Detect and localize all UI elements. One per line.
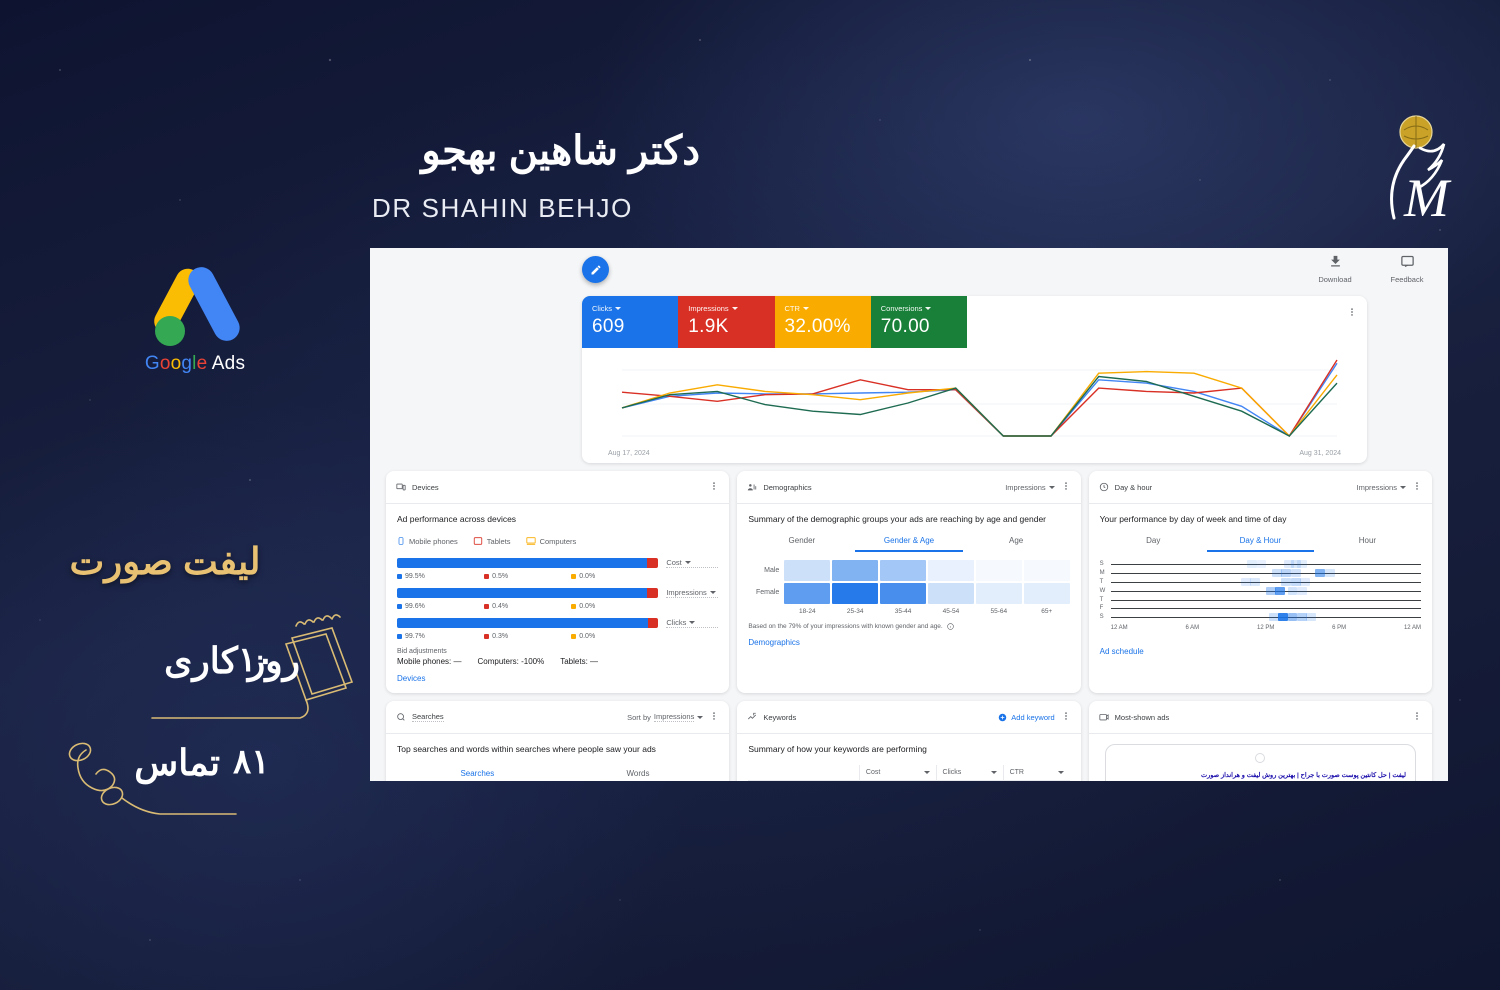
- kebab-icon: [1061, 481, 1071, 491]
- tab-day[interactable]: Day: [1100, 536, 1207, 552]
- pct-mobile-cost: 99.5%: [405, 573, 425, 580]
- row-label-male: Male: [748, 560, 779, 582]
- tab-searches[interactable]: Searches: [397, 769, 558, 781]
- kpi-card-impressions[interactable]: Impressions 1.9K: [678, 296, 774, 348]
- chevron-down-icon: [697, 716, 703, 719]
- chevron-down-icon: [925, 307, 931, 310]
- day-lane: [1111, 600, 1421, 601]
- demographics-row-male: [784, 560, 1069, 581]
- kw-col-clicks[interactable]: Clicks: [936, 765, 1003, 780]
- demographics-icon: [747, 482, 757, 492]
- searches-card-title: Searches: [412, 712, 444, 722]
- devices-legend: Mobile phones Tablets Computers: [397, 536, 718, 546]
- chevron-down-icon: [924, 771, 930, 774]
- day-hour-cell[interactable]: [1315, 569, 1325, 577]
- demographics-cell[interactable]: [832, 560, 878, 581]
- demographics-cell[interactable]: [928, 583, 974, 604]
- day-hour-day-labels: SMTWTFS: [1100, 560, 1111, 622]
- day-lane: [1111, 608, 1421, 609]
- searches-sort-label: Sort by: [627, 713, 651, 722]
- kpi-value-ctr: 32.00%: [785, 316, 861, 338]
- bid-adj-mobile: Mobile phones: —: [397, 657, 462, 666]
- legend-tablets: Tablets: [473, 536, 511, 546]
- day-hour-subtitle: Your performance by day of week and time…: [1100, 513, 1421, 525]
- day-label: T: [1100, 578, 1111, 587]
- chevron-down-icon: [1049, 486, 1055, 489]
- device-pcts-clicks: 99.7% 0.3% 0.0%: [397, 633, 718, 640]
- day-hour-cell[interactable]: [1250, 578, 1260, 586]
- device-bar-row-cost: Cost: [397, 558, 718, 568]
- bid-adjustments-label: Bid adjustments: [397, 648, 718, 655]
- searches-subtitle: Top searches and words within searches w…: [397, 743, 718, 755]
- kw-col-cost[interactable]: Cost: [859, 765, 936, 780]
- pct-mobile-clicks: 99.7%: [405, 633, 425, 640]
- day-hour-plot: [1111, 560, 1421, 622]
- day-label: T: [1100, 596, 1111, 605]
- demographics-card-header: Demographics Impressions: [737, 471, 1080, 504]
- chevron-down-icon: [803, 307, 809, 310]
- tablet-icon: [473, 536, 483, 546]
- device-metric-selector-clicks[interactable]: Clicks: [666, 618, 718, 628]
- pct-tablets-cost: 0.5%: [492, 573, 508, 580]
- tab-age[interactable]: Age: [963, 536, 1070, 552]
- devices-card-header: Devices: [386, 471, 729, 504]
- stat-days-value: ۱۰: [238, 640, 275, 680]
- chevron-down-icon: [1058, 771, 1064, 774]
- day-hour-cell[interactable]: [1291, 569, 1301, 577]
- searches-sort-value: Impressions: [654, 712, 694, 722]
- legend-computers: Computers: [526, 536, 577, 546]
- tab-hour[interactable]: Hour: [1314, 536, 1421, 552]
- pct-computers-impressions: 0.0%: [579, 603, 595, 610]
- day-hour-footer-link[interactable]: Ad schedule: [1100, 647, 1421, 656]
- download-button[interactable]: Download: [1312, 254, 1358, 284]
- bid-adj-tablets: Tablets: —: [560, 657, 598, 666]
- demographics-note: Based on the 79% of your impressions wit…: [748, 623, 1069, 630]
- add-keyword-button[interactable]: Add keyword: [998, 713, 1054, 722]
- demographics-cell[interactable]: [832, 583, 878, 604]
- demographics-tabs: Gender Gender & Age Age: [748, 536, 1069, 552]
- wordmark-ads: Ads: [207, 353, 245, 374]
- bid-adj-computers: Computers: -100%: [478, 657, 545, 666]
- demographics-cell[interactable]: [976, 583, 1022, 604]
- dashboard-row-bottom: Searches Sort by Impressions Top searche…: [386, 701, 1432, 781]
- bid-adjustments-values: Mobile phones: — Computers: -100% Tablet…: [397, 657, 718, 666]
- demographics-age-axis: 18-2425-3435-4445-5455-6465+: [784, 608, 1069, 615]
- doctor-name-english: DR SHAHIN BEHJO: [372, 193, 633, 224]
- kpi-card-conversions[interactable]: Conversions 70.00: [871, 296, 967, 348]
- device-metric-selector-cost[interactable]: Cost: [666, 558, 718, 568]
- performance-line-chart: Aug 17, 2024 Aug 31, 2024: [582, 348, 1367, 463]
- keywords-card: Keywords Add keyword Summary of how your…: [737, 701, 1080, 781]
- google-ads-dashboard-screenshot: Download Feedback Clicks 609 Imp: [370, 248, 1448, 781]
- kebab-icon: [1412, 711, 1422, 721]
- devices-card-body: Ad performance across devices Mobile pho…: [386, 504, 729, 693]
- day-label: F: [1100, 604, 1111, 613]
- day-hour-kebab-menu[interactable]: [1412, 478, 1422, 496]
- device-bar-impressions: [397, 588, 658, 598]
- demographics-card-body: Summary of the demographic groups your a…: [737, 504, 1080, 657]
- kebab-icon: [709, 481, 719, 491]
- chevron-down-icon: [1400, 486, 1406, 489]
- demographics-cell[interactable]: [976, 560, 1022, 581]
- device-bar-clicks: [397, 618, 658, 628]
- day-lane: [1111, 582, 1421, 583]
- legend-label-tablets: Tablets: [487, 537, 511, 546]
- hour-label: 12 AM: [1404, 625, 1421, 631]
- day-hour-card-body: Your performance by day of week and time…: [1089, 504, 1432, 666]
- computer-icon: [526, 536, 536, 546]
- ad-preview-phone-frame: لیفت | حل کانتین پوست صورت با جراح | بهت…: [1105, 744, 1416, 781]
- tab-words[interactable]: Words: [558, 769, 719, 781]
- clinic-monogram-logo: M: [1358, 108, 1470, 228]
- legend-label-mobile: Mobile phones: [409, 537, 458, 546]
- keywords-icon: [747, 712, 757, 722]
- device-bar-row-clicks: Clicks: [397, 618, 718, 628]
- overview-card: Clicks 609 Impressions 1.9K CTR 32.00% C…: [582, 296, 1367, 463]
- dashboard-toolbar: Download Feedback: [370, 248, 1448, 296]
- searches-card-body: Top searches and words within searches w…: [386, 734, 729, 781]
- chevron-down-icon: [732, 307, 738, 310]
- day-lane: [1111, 617, 1421, 618]
- age-bucket-label: 65+: [1024, 608, 1070, 615]
- keywords-subtitle: Summary of how your keywords are perform…: [748, 743, 1069, 755]
- kpi-card-clicks[interactable]: Clicks 609: [582, 296, 678, 348]
- chart-date-end: Aug 31, 2024: [1299, 450, 1341, 457]
- chevron-down-icon: [689, 621, 695, 624]
- pct-tablets-impressions: 0.4%: [492, 603, 508, 610]
- chart-series-impressions: [622, 360, 1337, 436]
- demographics-cell[interactable]: [1024, 560, 1070, 581]
- add-keyword-label: Add keyword: [1011, 713, 1054, 722]
- google-ads-logo: Google Ads: [135, 262, 255, 375]
- hour-label: 6 AM: [1185, 625, 1199, 631]
- chart-date-start: Aug 17, 2024: [608, 450, 650, 457]
- device-pcts-cost: 99.5% 0.5% 0.0%: [397, 573, 718, 580]
- wordmark-char-g2: g: [181, 353, 192, 374]
- clock-icon: [1099, 482, 1109, 492]
- age-bucket-label: 45-54: [928, 608, 974, 615]
- day-hour-hour-axis: 12 AM6 AM12 PM6 PM12 AM: [1111, 625, 1421, 631]
- plus-circle-icon: [998, 713, 1007, 722]
- dashboard-content: Clicks 609 Impressions 1.9K CTR 32.00% C…: [370, 296, 1448, 781]
- searches-kebab-menu[interactable]: [709, 708, 719, 726]
- demographics-kebab-menu[interactable]: [1061, 478, 1071, 496]
- keywords-card-body: Summary of how your keywords are perform…: [737, 734, 1080, 781]
- stat-calls-label: تماس: [30, 742, 220, 784]
- chevron-down-icon: [685, 561, 691, 564]
- age-bucket-label: 18-24: [784, 608, 830, 615]
- age-bucket-label: 55-64: [976, 608, 1022, 615]
- download-label: Download: [1312, 275, 1358, 284]
- device-bar-row-impressions: Impressions: [397, 588, 718, 598]
- keywords-kebab-menu[interactable]: [1061, 708, 1071, 726]
- tab-gender[interactable]: Gender: [748, 536, 855, 552]
- devices-subtitle: Ad performance across devices: [397, 513, 718, 525]
- day-hour-cell[interactable]: [1278, 613, 1288, 621]
- day-hour-metric-selector[interactable]: Impressions: [1357, 483, 1406, 492]
- device-metric-selector-impressions[interactable]: Impressions: [666, 588, 718, 598]
- hour-label: 12 PM: [1257, 625, 1274, 631]
- kpi-value-conversions: 70.00: [881, 316, 957, 338]
- doctor-name-farsi: دکتر شاهین بهجو: [370, 128, 700, 174]
- legend-label-computers: Computers: [540, 537, 577, 546]
- day-hour-cell[interactable]: [1306, 613, 1316, 621]
- kpi-label-impressions: Impressions: [688, 304, 728, 313]
- overview-kebab-menu[interactable]: [1347, 304, 1357, 322]
- wordmark-char-o1: o: [160, 353, 171, 374]
- day-hour-card: Day & hour Impressions Your performance …: [1089, 471, 1432, 693]
- chart-series-conversions: [622, 377, 1337, 437]
- searches-card: Searches Sort by Impressions Top searche…: [386, 701, 729, 781]
- demographics-cells: [784, 560, 1069, 606]
- chevron-down-icon: [710, 591, 716, 594]
- feedback-button[interactable]: Feedback: [1384, 254, 1430, 284]
- phone-camera-notch-icon: [1255, 753, 1265, 763]
- age-bucket-label: 35-44: [880, 608, 926, 615]
- pct-computers-cost: 0.0%: [579, 573, 595, 580]
- demographics-card: Demographics Impressions Summary of the …: [737, 471, 1080, 693]
- kpi-card-ctr[interactable]: CTR 32.00%: [775, 296, 871, 348]
- pencil-icon: [590, 264, 602, 276]
- day-label: S: [1100, 560, 1111, 569]
- demographics-row-female: [784, 583, 1069, 604]
- day-hour-heatmap: SMTWTFS: [1100, 560, 1421, 622]
- day-hour-cell[interactable]: [1297, 587, 1307, 595]
- feedback-icon: [1384, 254, 1430, 272]
- day-hour-cell[interactable]: [1288, 613, 1298, 621]
- most-shown-ads-card: Most-shown ads لیفت | حل کانتین پوست صور…: [1089, 701, 1432, 781]
- ad-preview-body: لیفت | حل کانتین پوست صورت با جراح | بهت…: [1115, 770, 1406, 781]
- kpi-value-impressions: 1.9K: [688, 316, 764, 338]
- day-hour-card-header: Day & hour Impressions: [1089, 471, 1432, 504]
- search-icon: [396, 712, 406, 722]
- day-hour-cell[interactable]: [1288, 587, 1298, 595]
- demographics-cell[interactable]: [784, 583, 830, 604]
- most-shown-ads-header: Most-shown ads: [1089, 701, 1432, 734]
- devices-card-title: Devices: [412, 483, 703, 492]
- day-hour-cell[interactable]: [1247, 560, 1257, 568]
- kebab-icon: [1347, 307, 1357, 317]
- most-shown-ads-title: Most-shown ads: [1115, 713, 1406, 722]
- google-ads-wordmark: Google Ads: [135, 353, 255, 375]
- day-lane: [1111, 573, 1421, 574]
- download-icon: [1312, 254, 1358, 272]
- kpi-label-ctr: CTR: [785, 304, 800, 313]
- tab-day-hour[interactable]: Day & Hour: [1207, 536, 1314, 552]
- ad-headline: لیفت | حل کانتین پوست صورت با جراح | بهت…: [1115, 770, 1406, 781]
- devices-card: Devices Ad performance across devices Mo…: [386, 471, 729, 693]
- searches-sort-control[interactable]: Sort by Impressions: [627, 712, 703, 722]
- day-hour-tabs: Day Day & Hour Hour: [1100, 536, 1421, 552]
- kebab-icon: [709, 711, 719, 721]
- keywords-table-header: Cost Clicks CTR: [748, 765, 1069, 781]
- day-label: W: [1100, 587, 1111, 596]
- row-label-female: Female: [748, 582, 779, 604]
- devices-icon: [396, 482, 406, 492]
- day-hour-cell[interactable]: [1325, 569, 1335, 577]
- hour-label: 12 AM: [1111, 625, 1128, 631]
- demographics-cell[interactable]: [880, 583, 926, 604]
- pct-tablets-clicks: 0.3%: [492, 633, 508, 640]
- keywords-card-header: Keywords Add keyword: [737, 701, 1080, 734]
- day-hour-cell[interactable]: [1297, 560, 1307, 568]
- most-shown-ads-kebab-menu[interactable]: [1412, 708, 1422, 726]
- demographics-row-labels: Male Female: [748, 560, 784, 606]
- feedback-label: Feedback: [1384, 275, 1430, 284]
- svg-text:M: M: [1403, 168, 1452, 228]
- tab-gender-age[interactable]: Gender & Age: [855, 536, 962, 552]
- day-label: S: [1100, 613, 1111, 622]
- demographics-card-title: Demographics: [763, 483, 999, 492]
- edit-fab-button[interactable]: [582, 256, 609, 283]
- day-hour-card-title: Day & hour: [1115, 483, 1351, 492]
- stat-calls-value: ۸۱: [233, 742, 270, 782]
- day-hour-cell[interactable]: [1257, 560, 1267, 568]
- demographics-footer-link[interactable]: Demographics: [748, 638, 1069, 647]
- wordmark-char-e: e: [197, 353, 208, 374]
- keywords-card-title: Keywords: [763, 713, 992, 722]
- ads-preview-icon: [1099, 712, 1109, 722]
- demographics-cell[interactable]: [784, 560, 830, 581]
- chart-date-range: Aug 17, 2024 Aug 31, 2024: [582, 450, 1367, 457]
- hour-label: 6 PM: [1332, 625, 1346, 631]
- line-chart-svg: [592, 352, 1357, 440]
- demographics-cell[interactable]: [928, 560, 974, 581]
- age-bucket-label: 25-34: [832, 608, 878, 615]
- kpi-scorecards: Clicks 609 Impressions 1.9K CTR 32.00% C…: [582, 296, 967, 348]
- wordmark-char-o2: o: [171, 353, 182, 374]
- kpi-value-clicks: 609: [592, 316, 668, 338]
- device-pcts-impressions: 99.6% 0.4% 0.0%: [397, 603, 718, 610]
- service-headline: لیفت صورت: [0, 540, 330, 583]
- demographics-metric-selector[interactable]: Impressions: [1005, 483, 1054, 492]
- kebab-icon: [1412, 481, 1422, 491]
- dashboard-row-middle: Devices Ad performance across devices Mo…: [386, 471, 1432, 693]
- demographics-subtitle: Summary of the demographic groups your a…: [748, 513, 1069, 525]
- device-bar-cost: [397, 558, 658, 568]
- legend-mobile-phones: Mobile phones: [397, 536, 458, 546]
- demographics-cell[interactable]: [880, 560, 926, 581]
- day-label: M: [1100, 569, 1111, 578]
- day-hour-cell[interactable]: [1281, 578, 1291, 586]
- dashboard-header-actions: Download Feedback: [1312, 254, 1430, 284]
- kebab-icon: [1061, 711, 1071, 721]
- kpi-label-conversions: Conversions: [881, 304, 923, 313]
- kpi-label-clicks: Clicks: [592, 304, 612, 313]
- pct-computers-clicks: 0.0%: [579, 633, 595, 640]
- chevron-down-icon: [615, 307, 621, 310]
- pct-mobile-impressions: 99.6%: [405, 603, 425, 610]
- chevron-down-icon: [991, 771, 997, 774]
- devices-kebab-menu[interactable]: [709, 478, 719, 496]
- demographics-cell[interactable]: [1024, 583, 1070, 604]
- kw-col-keyword: [748, 765, 859, 780]
- day-hour-cell[interactable]: [1300, 578, 1310, 586]
- mobile-phone-icon: [397, 536, 405, 546]
- day-hour-cell[interactable]: [1281, 569, 1291, 577]
- devices-footer-link[interactable]: Devices: [397, 674, 718, 683]
- google-ads-mark-icon: [149, 262, 241, 346]
- day-hour-cell[interactable]: [1275, 587, 1285, 595]
- kw-col-ctr[interactable]: CTR: [1003, 765, 1070, 780]
- info-icon: [947, 623, 954, 630]
- wordmark-char-g: G: [145, 353, 160, 374]
- demographics-heatmap: Male Female: [748, 560, 1069, 606]
- searches-tabs: Searches Words: [397, 769, 718, 781]
- searches-card-header: Searches Sort by Impressions: [386, 701, 729, 734]
